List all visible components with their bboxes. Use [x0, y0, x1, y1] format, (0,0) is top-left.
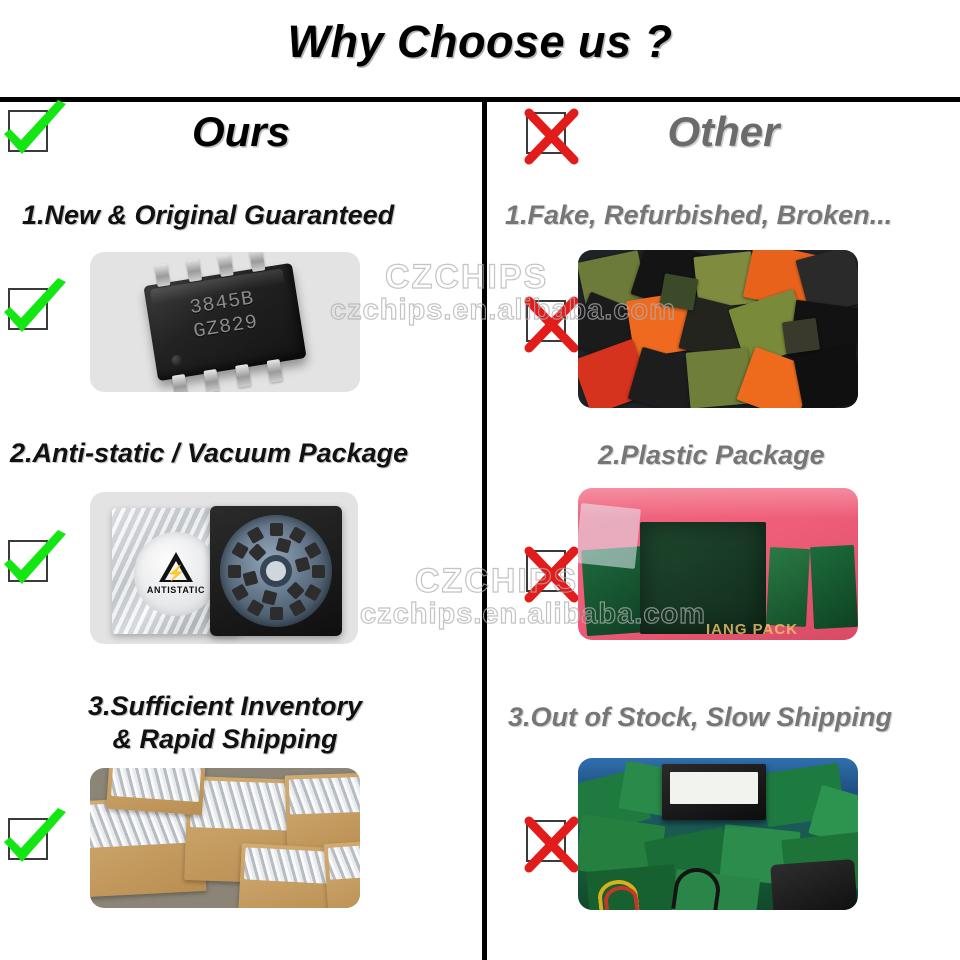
cross-icon-other-3	[526, 820, 572, 866]
check-icon-ours-3	[8, 818, 54, 864]
feature-label-ours-1: 1.New & Original Guaranteed	[22, 200, 394, 232]
ic-body: 3845B GZ829	[143, 263, 306, 381]
feature-label-ours-3-line2: & Rapid Shipping	[55, 723, 395, 756]
lightning-bolt-icon: ⚡	[167, 566, 186, 581]
green-check-glyph	[0, 274, 72, 346]
red-cross-glyph	[518, 98, 588, 168]
cross-icon-other-2	[526, 550, 572, 596]
stock-boxes-graphic	[90, 768, 360, 908]
antistatic-label-circle: ⚡ ANTISTATIC	[134, 532, 218, 616]
column-divider-vertical	[482, 102, 487, 960]
feature-label-ours-2: 2.Anti-static / Vacuum Package	[10, 438, 408, 470]
black-module	[662, 764, 766, 820]
feature-label-ours-3-line1: 3.Sufficient Inventory	[55, 690, 395, 723]
feature-label-other-3: 3.Out of Stock, Slow Shipping	[508, 702, 892, 734]
column-header-ours: Ours	[0, 104, 482, 174]
ic-marking: 3845B GZ829	[146, 281, 302, 353]
why-choose-us-infographic: Why Choose us ? Ours Other 1.New & Origi…	[0, 0, 960, 960]
check-icon-ours-1	[8, 288, 54, 334]
check-icon-ours-2	[8, 540, 54, 586]
pink-bag-graphic: IANG PACK	[578, 488, 858, 640]
pink-bag-overlay-text: IANG PACK	[706, 621, 798, 638]
antistatic-bag-label: ANTISTATIC	[147, 585, 205, 595]
reel-disc	[220, 515, 332, 627]
scrap-chips-photo	[578, 250, 858, 408]
feature-label-other-2: 2.Plastic Package	[598, 440, 825, 472]
column-header-ours-label: Ours	[0, 108, 482, 156]
tape-reel-graphic	[210, 506, 342, 636]
check-icon-header-ours	[8, 110, 54, 156]
cross-icon-other-1	[526, 300, 572, 346]
scrap-pcb-pile-photo	[578, 758, 858, 910]
cross-icon-header-other	[526, 112, 572, 158]
page-title: Why Choose us ?	[0, 16, 960, 68]
reel-hub	[266, 561, 286, 581]
scrap-chips-graphic	[578, 250, 858, 408]
stock-boxes-photo	[90, 768, 360, 908]
pin1-dot	[171, 354, 184, 367]
pink-plastic-bag-photo: IANG PACK	[578, 488, 858, 640]
ic-chip-photo: 3845B GZ829	[90, 252, 360, 392]
module-white-label	[670, 772, 758, 804]
header-divider-horizontal	[0, 97, 960, 102]
feature-label-other-1: 1.Fake, Refurbished, Broken...	[505, 200, 892, 232]
ic-chip-graphic: 3845B GZ829	[143, 263, 306, 381]
green-check-glyph	[0, 526, 72, 598]
scrap-pcb-pile-graphic	[578, 758, 858, 910]
green-check-glyph	[0, 804, 72, 876]
green-check-glyph	[0, 96, 72, 168]
feature-label-ours-3: 3.Sufficient Inventory & Rapid Shipping	[55, 690, 395, 756]
antistatic-bag-and-reel-photo: ⚡ ANTISTATIC	[90, 492, 358, 644]
